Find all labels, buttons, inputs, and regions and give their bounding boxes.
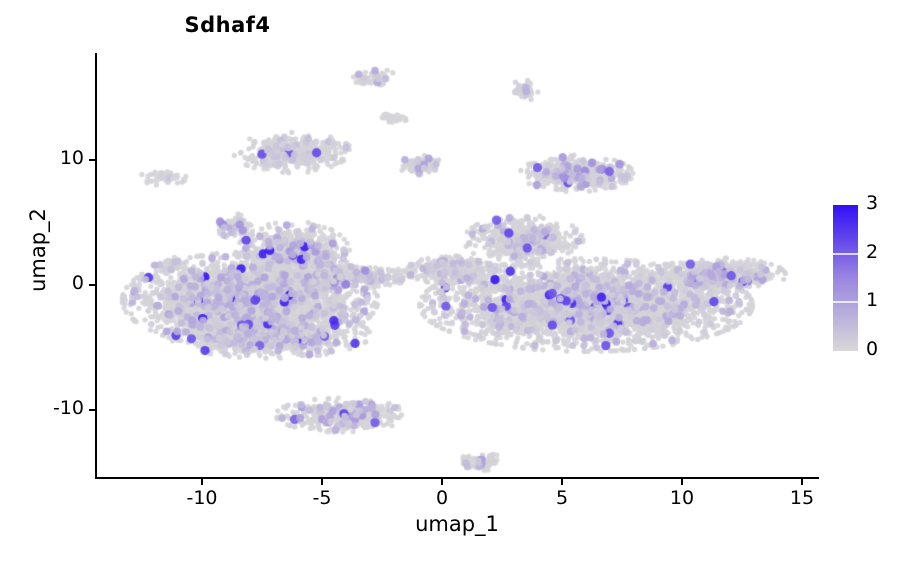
- figure-canvas: Sdhaf4 -10-5051015 100-10 umap_1 umap_2 …: [0, 0, 911, 562]
- x-tick-mark: [801, 479, 803, 485]
- colorbar-tick-label: 3: [866, 192, 906, 214]
- scatter-plot-area: [96, 54, 818, 478]
- y-axis-label: umap_2: [26, 150, 50, 350]
- x-tick-mark: [441, 479, 443, 485]
- colorbar: [833, 205, 858, 351]
- x-tick-label: -10: [172, 487, 232, 509]
- colorbar-tick-label: 1: [866, 289, 906, 311]
- colorbar-tick-mark: [833, 301, 858, 303]
- x-tick-label: 0: [412, 487, 472, 509]
- colorbar-gradient: [833, 205, 858, 351]
- x-tick-mark: [321, 479, 323, 485]
- x-tick-label: 15: [772, 487, 832, 509]
- umap-scatter-canvas: [96, 54, 818, 478]
- x-tick-label: 5: [532, 487, 592, 509]
- x-axis-label: umap_1: [96, 512, 818, 536]
- x-tick-mark: [201, 479, 203, 485]
- axis-spine-left: [95, 53, 97, 479]
- colorbar-tick-label: 2: [866, 241, 906, 263]
- x-tick-label: 10: [652, 487, 712, 509]
- y-tick-mark: [89, 284, 95, 286]
- colorbar-tick-label: 0: [866, 338, 906, 360]
- x-tick-label: -5: [292, 487, 352, 509]
- colorbar-tick-mark: [833, 253, 858, 255]
- y-tick-mark: [89, 159, 95, 161]
- page-title: Sdhaf4: [0, 13, 910, 37]
- axis-spine-bottom: [95, 477, 819, 479]
- y-tick-label: -10: [14, 397, 84, 419]
- x-tick-mark: [561, 479, 563, 485]
- x-tick-mark: [681, 479, 683, 485]
- y-tick-mark: [89, 409, 95, 411]
